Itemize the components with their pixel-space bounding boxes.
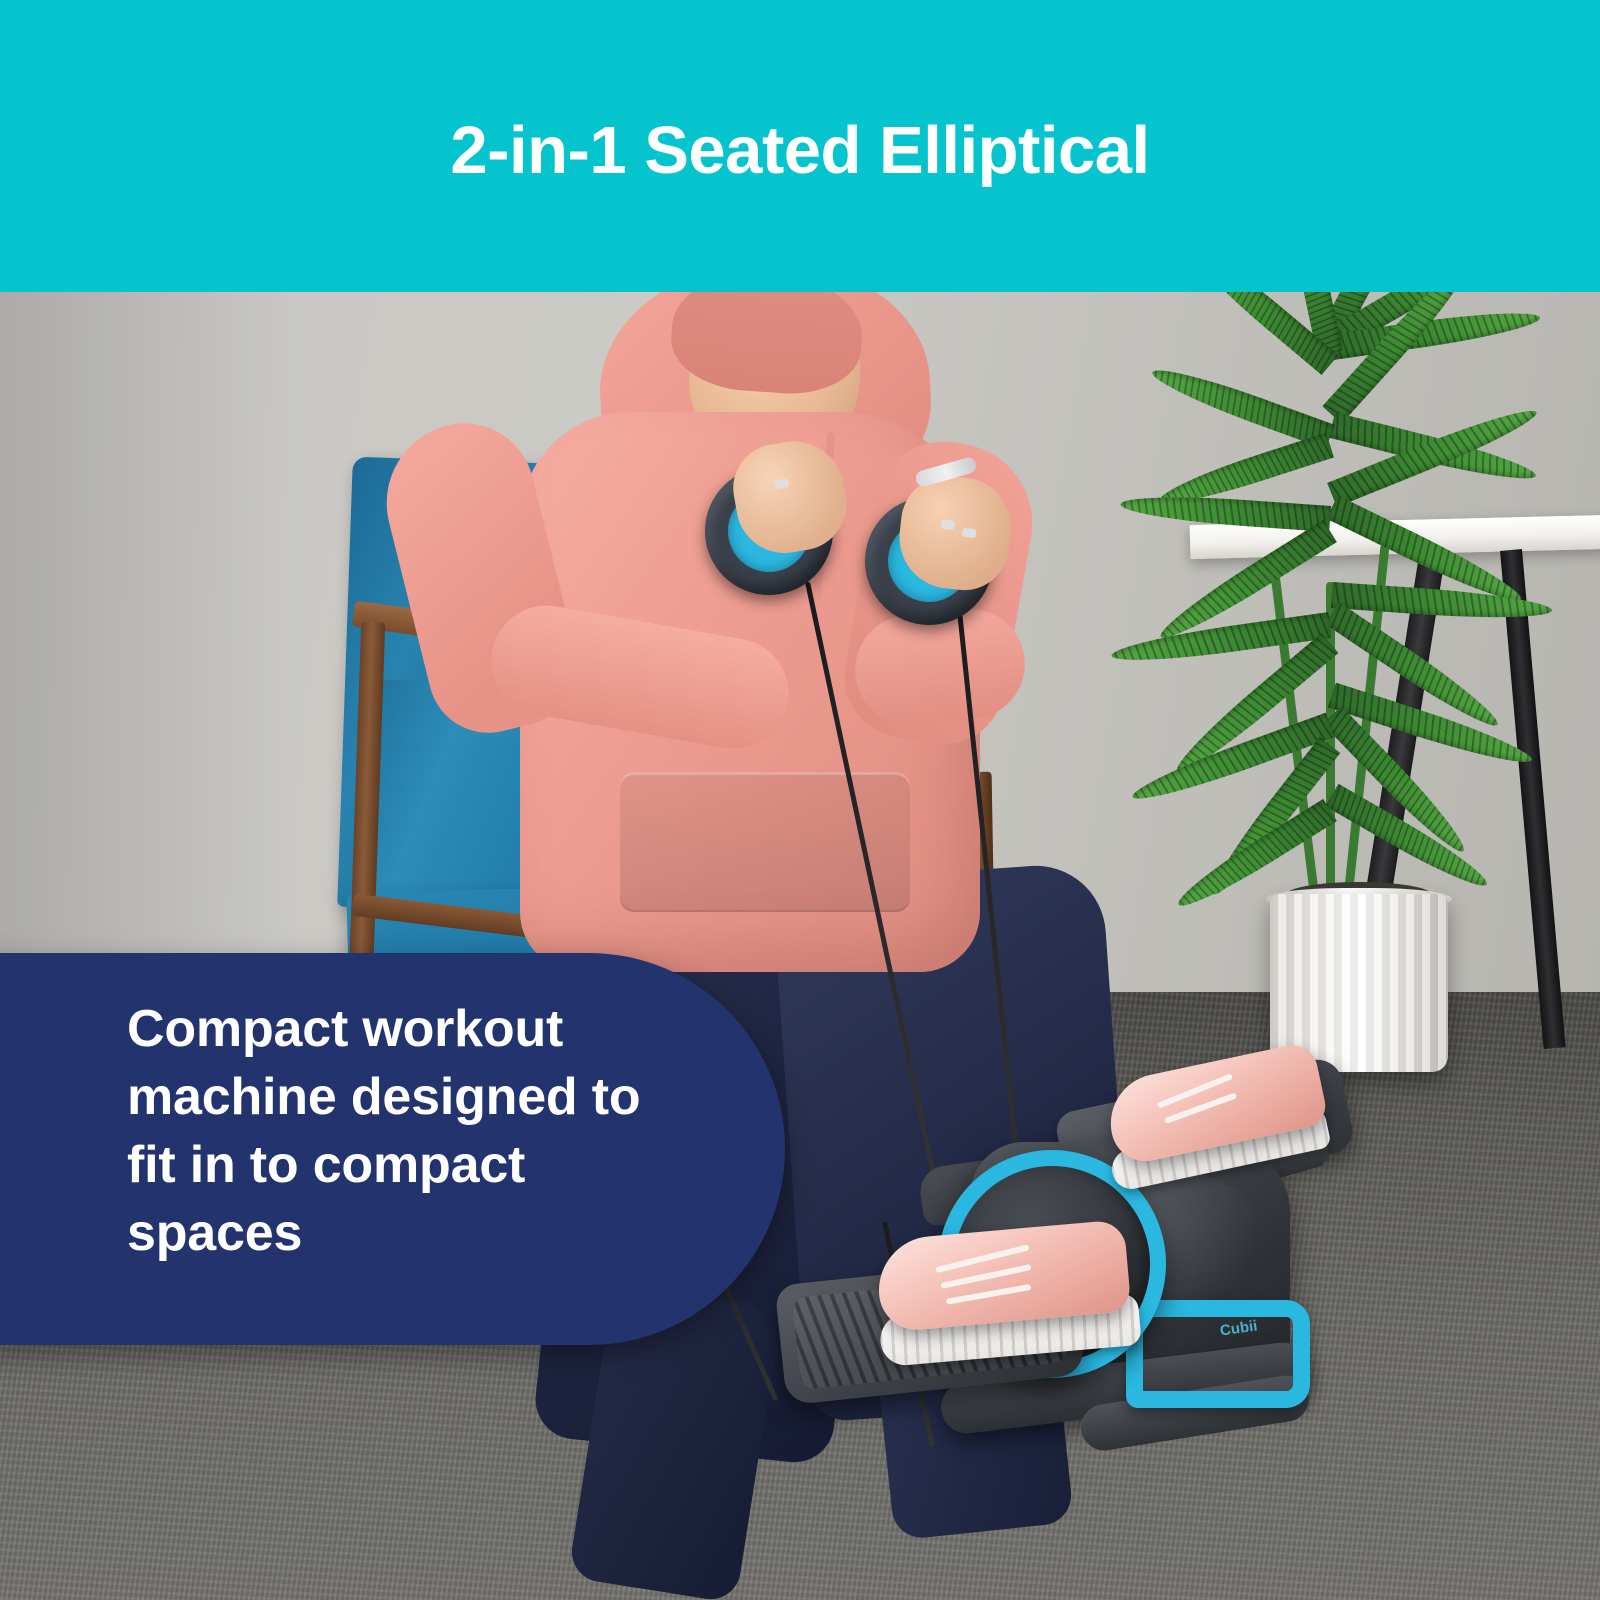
callout-line-3: fit in to compact xyxy=(127,1131,687,1199)
callout-line-1: Compact workout xyxy=(127,995,687,1063)
palm-plant xyxy=(1080,292,1600,1112)
feature-callout-text: Compact workout machine designed to fit … xyxy=(127,995,687,1267)
finger-ring xyxy=(774,478,789,489)
feature-callout: Compact workout machine designed to fit … xyxy=(0,953,785,1345)
product-photo: Cubii Cubii xyxy=(0,292,1600,1600)
carry-strap[interactable] xyxy=(1126,1300,1310,1408)
banner-title: 2-in-1 Seated Elliptical xyxy=(450,117,1149,184)
finger-ring xyxy=(962,528,977,538)
callout-line-4: spaces xyxy=(127,1199,687,1267)
header-banner: 2-in-1 Seated Elliptical xyxy=(0,0,1600,292)
product-marketing-image: Cubii Cubii 2-in-1 Seated Elliptical Com… xyxy=(0,0,1600,1600)
finger-ring xyxy=(940,519,955,529)
shoelace xyxy=(946,1284,1032,1305)
hoodie-pocket xyxy=(620,772,910,912)
callout-line-2: machine designed to xyxy=(127,1063,687,1131)
